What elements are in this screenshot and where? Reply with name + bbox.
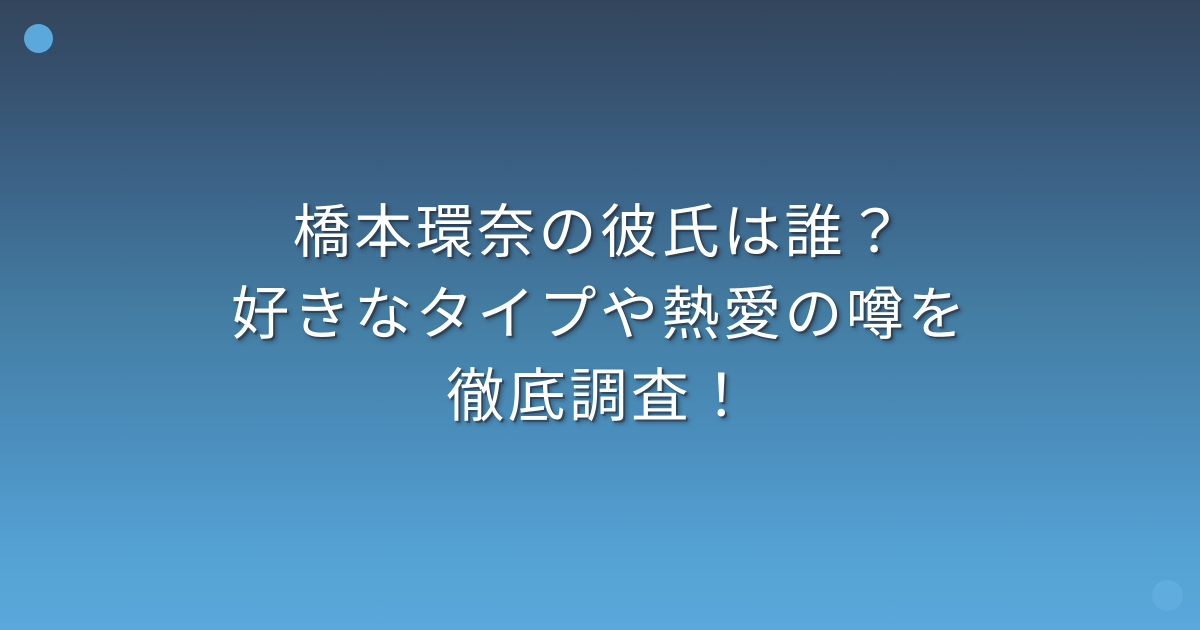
- title-line-1: 橋本環奈の彼氏は誰？: [293, 192, 908, 274]
- title-line-2: 好きなタイプや熱愛の噂を: [231, 274, 969, 356]
- og-share-card: 橋本環奈の彼氏は誰？ 好きなタイプや熱愛の噂を 徹底調査！: [0, 0, 1200, 630]
- page-title: 橋本環奈の彼氏は誰？ 好きなタイプや熱愛の噂を 徹底調査！: [0, 0, 1200, 630]
- title-line-3: 徹底調査！: [446, 356, 753, 438]
